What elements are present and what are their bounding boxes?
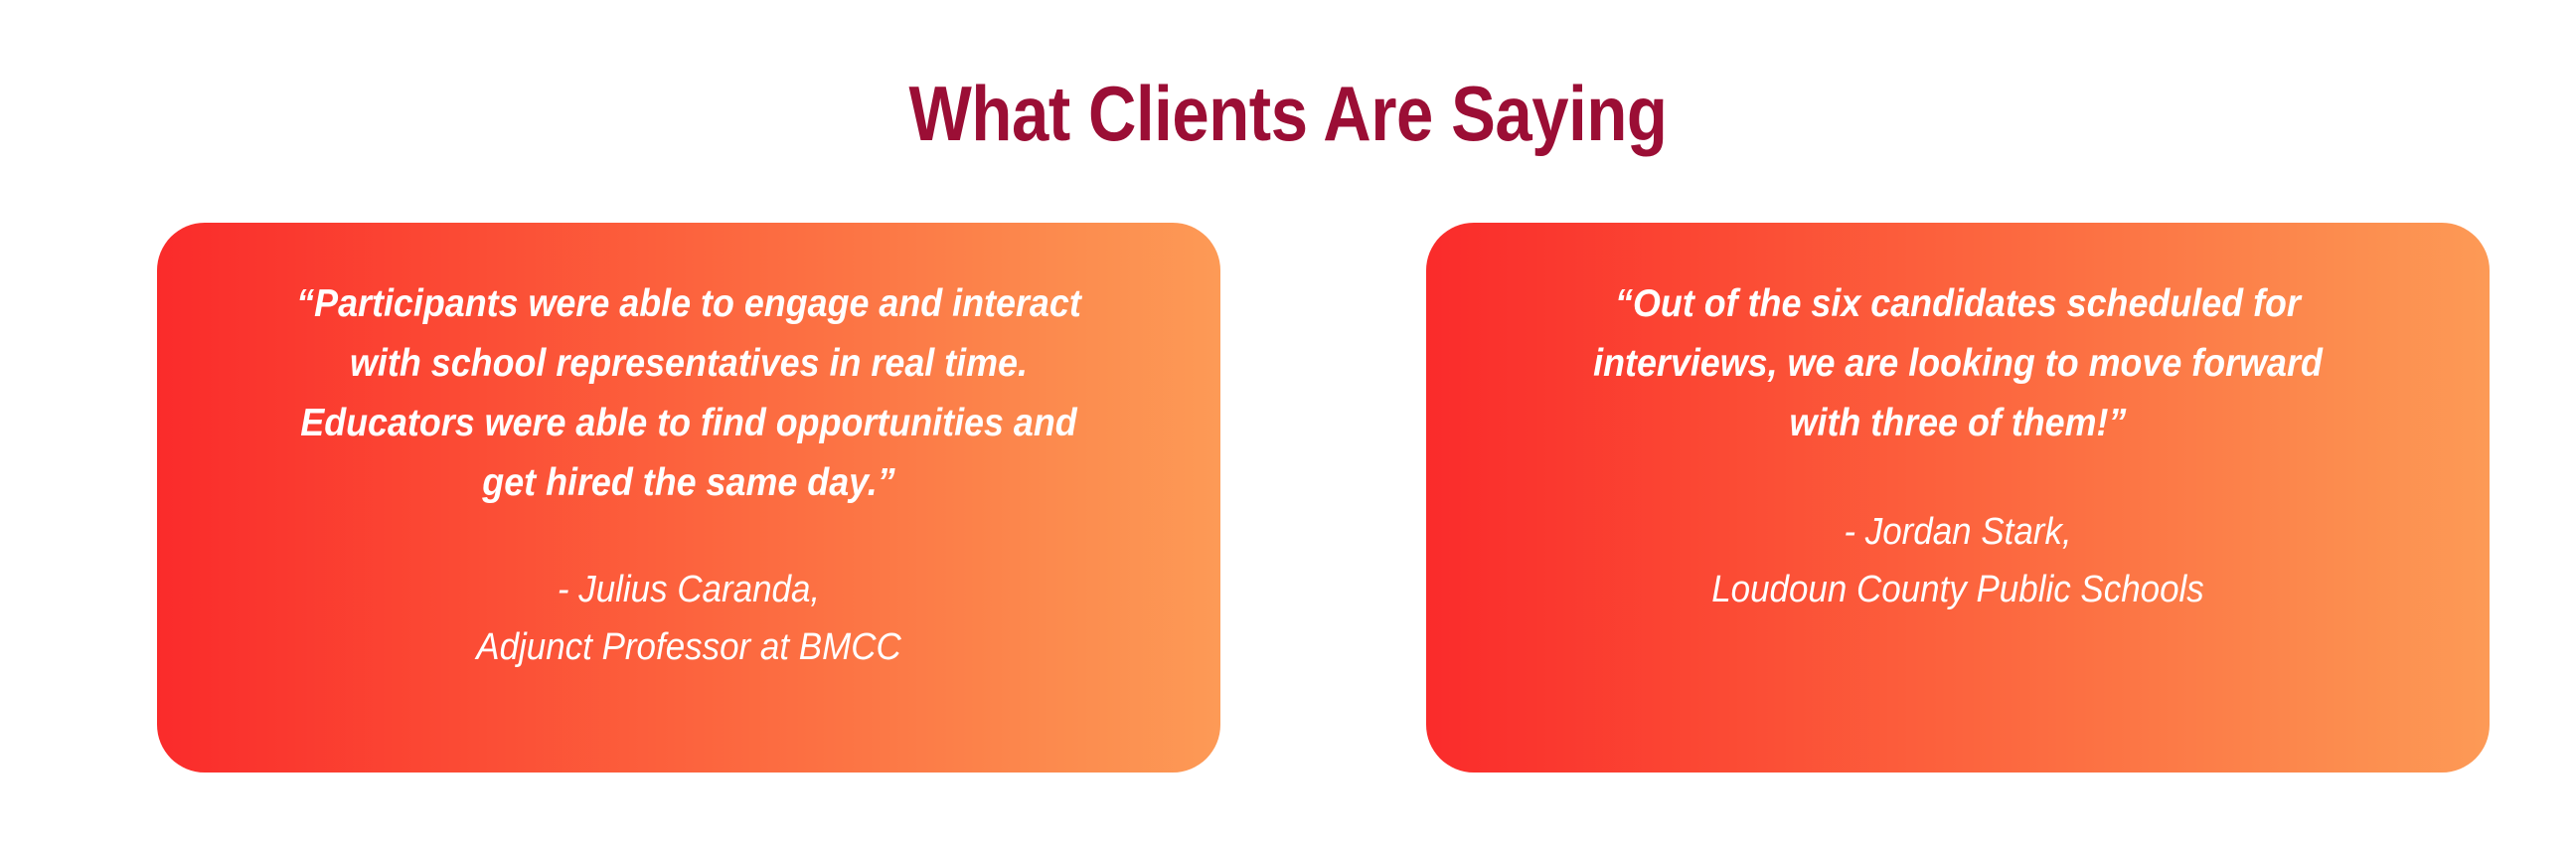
- testimonial-card: “Participants were able to engage and in…: [157, 223, 1220, 773]
- testimonial-attribution: - Jordan Stark, Loudoun County Public Sc…: [1556, 503, 2359, 618]
- attribution-name: - Jordan Stark,: [1556, 503, 2359, 561]
- testimonial-quote: “Out of the six candidates scheduled for…: [1556, 274, 2359, 453]
- page-title: What Clients Are Saying: [180, 66, 2395, 161]
- attribution-name: - Julius Caranda,: [287, 561, 1090, 618]
- testimonial-attribution: - Julius Caranda, Adjunct Professor at B…: [287, 561, 1090, 676]
- testimonials-slide: What Clients Are Saying “Participants we…: [0, 0, 2576, 859]
- testimonial-card-list: “Participants were able to engage and in…: [157, 223, 2490, 773]
- attribution-role: Adjunct Professor at BMCC: [287, 618, 1090, 676]
- testimonial-quote: “Participants were able to engage and in…: [287, 274, 1090, 513]
- attribution-role: Loudoun County Public Schools: [1556, 561, 2359, 618]
- testimonial-card: “Out of the six candidates scheduled for…: [1426, 223, 2490, 773]
